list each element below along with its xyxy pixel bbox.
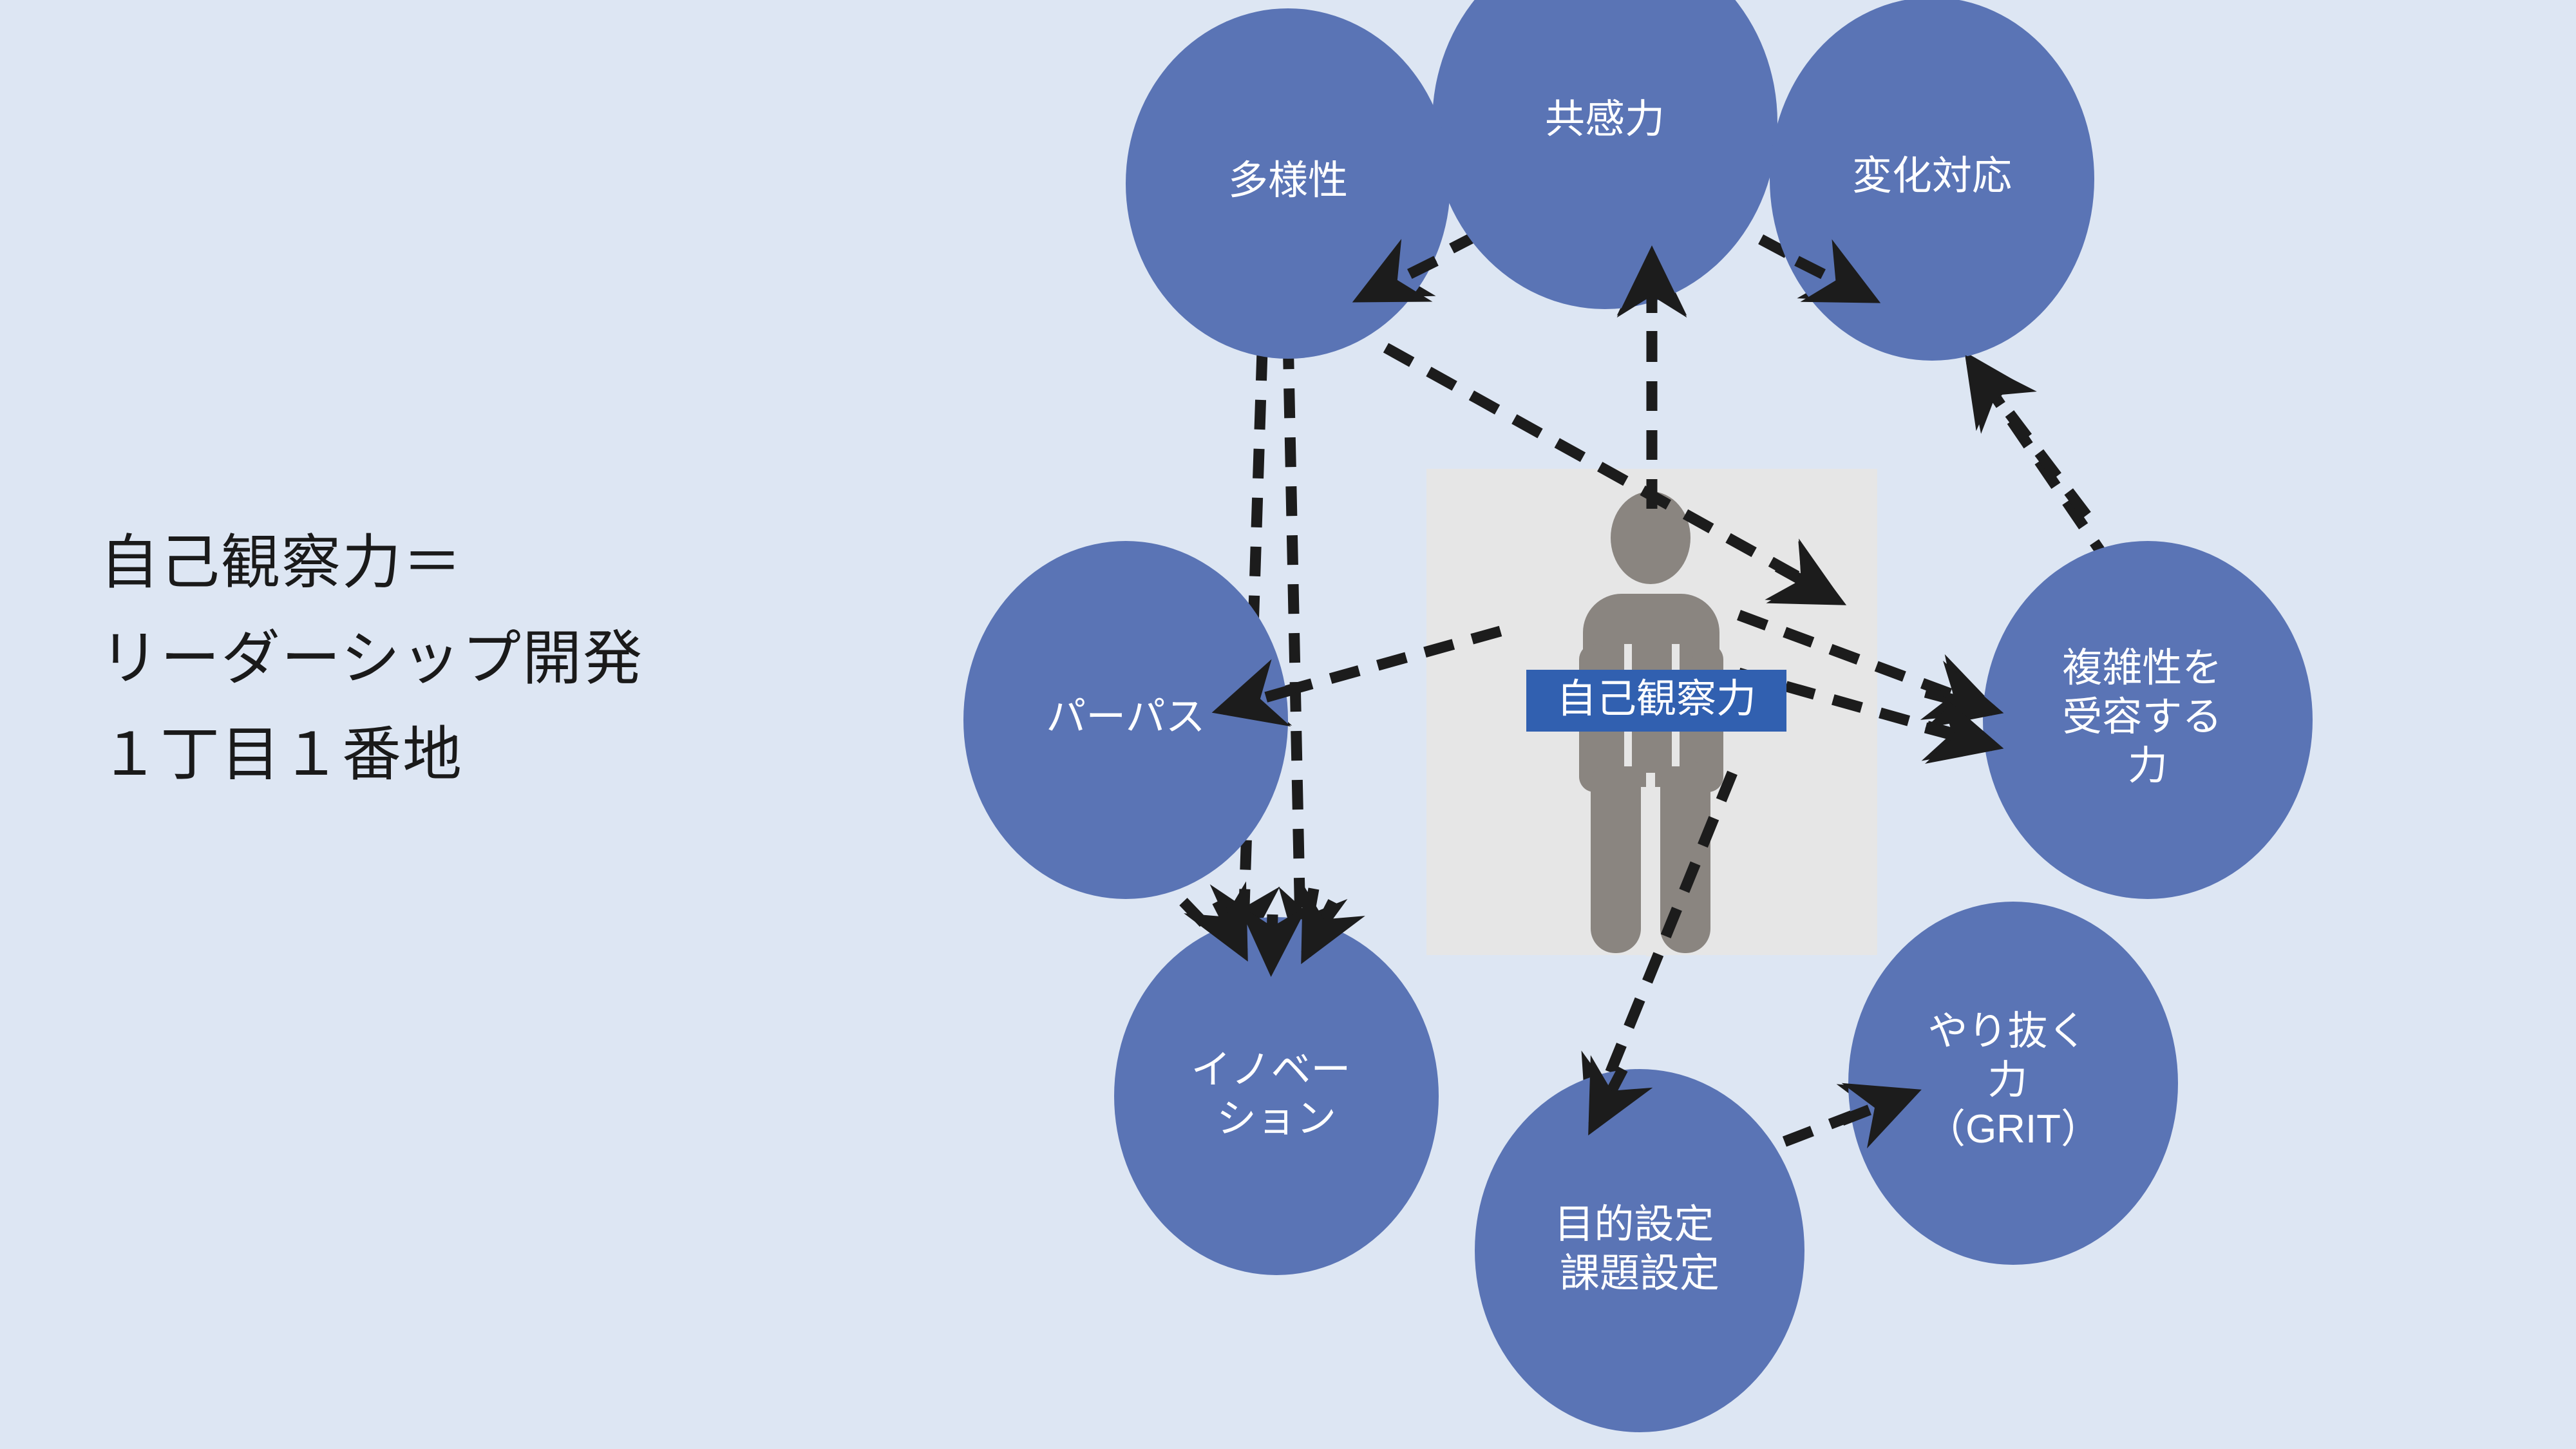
self-observation-diagram: 共感力 多様性 変化対応 複雑性を 受容する 力 やり抜く 力 （GRIT） 目… — [0, 0, 2576, 1449]
slide-canvas: 自己観察力＝ リーダーシップ開発 １丁目１番地 — [0, 0, 2576, 1449]
node-change-label: 変化対応 — [1852, 154, 2012, 198]
node-goal-circle[interactable] — [1475, 1069, 1804, 1432]
node-empathy-label: 共感力 — [1545, 97, 1665, 142]
center-label-text: 自己観察力 — [1557, 677, 1756, 721]
node-purpose-label: パーパス — [1046, 695, 1205, 739]
center-label-box[interactable]: 自己観察力 — [1526, 670, 1786, 732]
node-diversity-label: 多様性 — [1228, 158, 1348, 203]
node-empathy-circle[interactable] — [1432, 0, 1777, 309]
arrow-empathy-to-innovation — [1288, 335, 1301, 956]
node-innovation-circle[interactable] — [1114, 917, 1439, 1275]
